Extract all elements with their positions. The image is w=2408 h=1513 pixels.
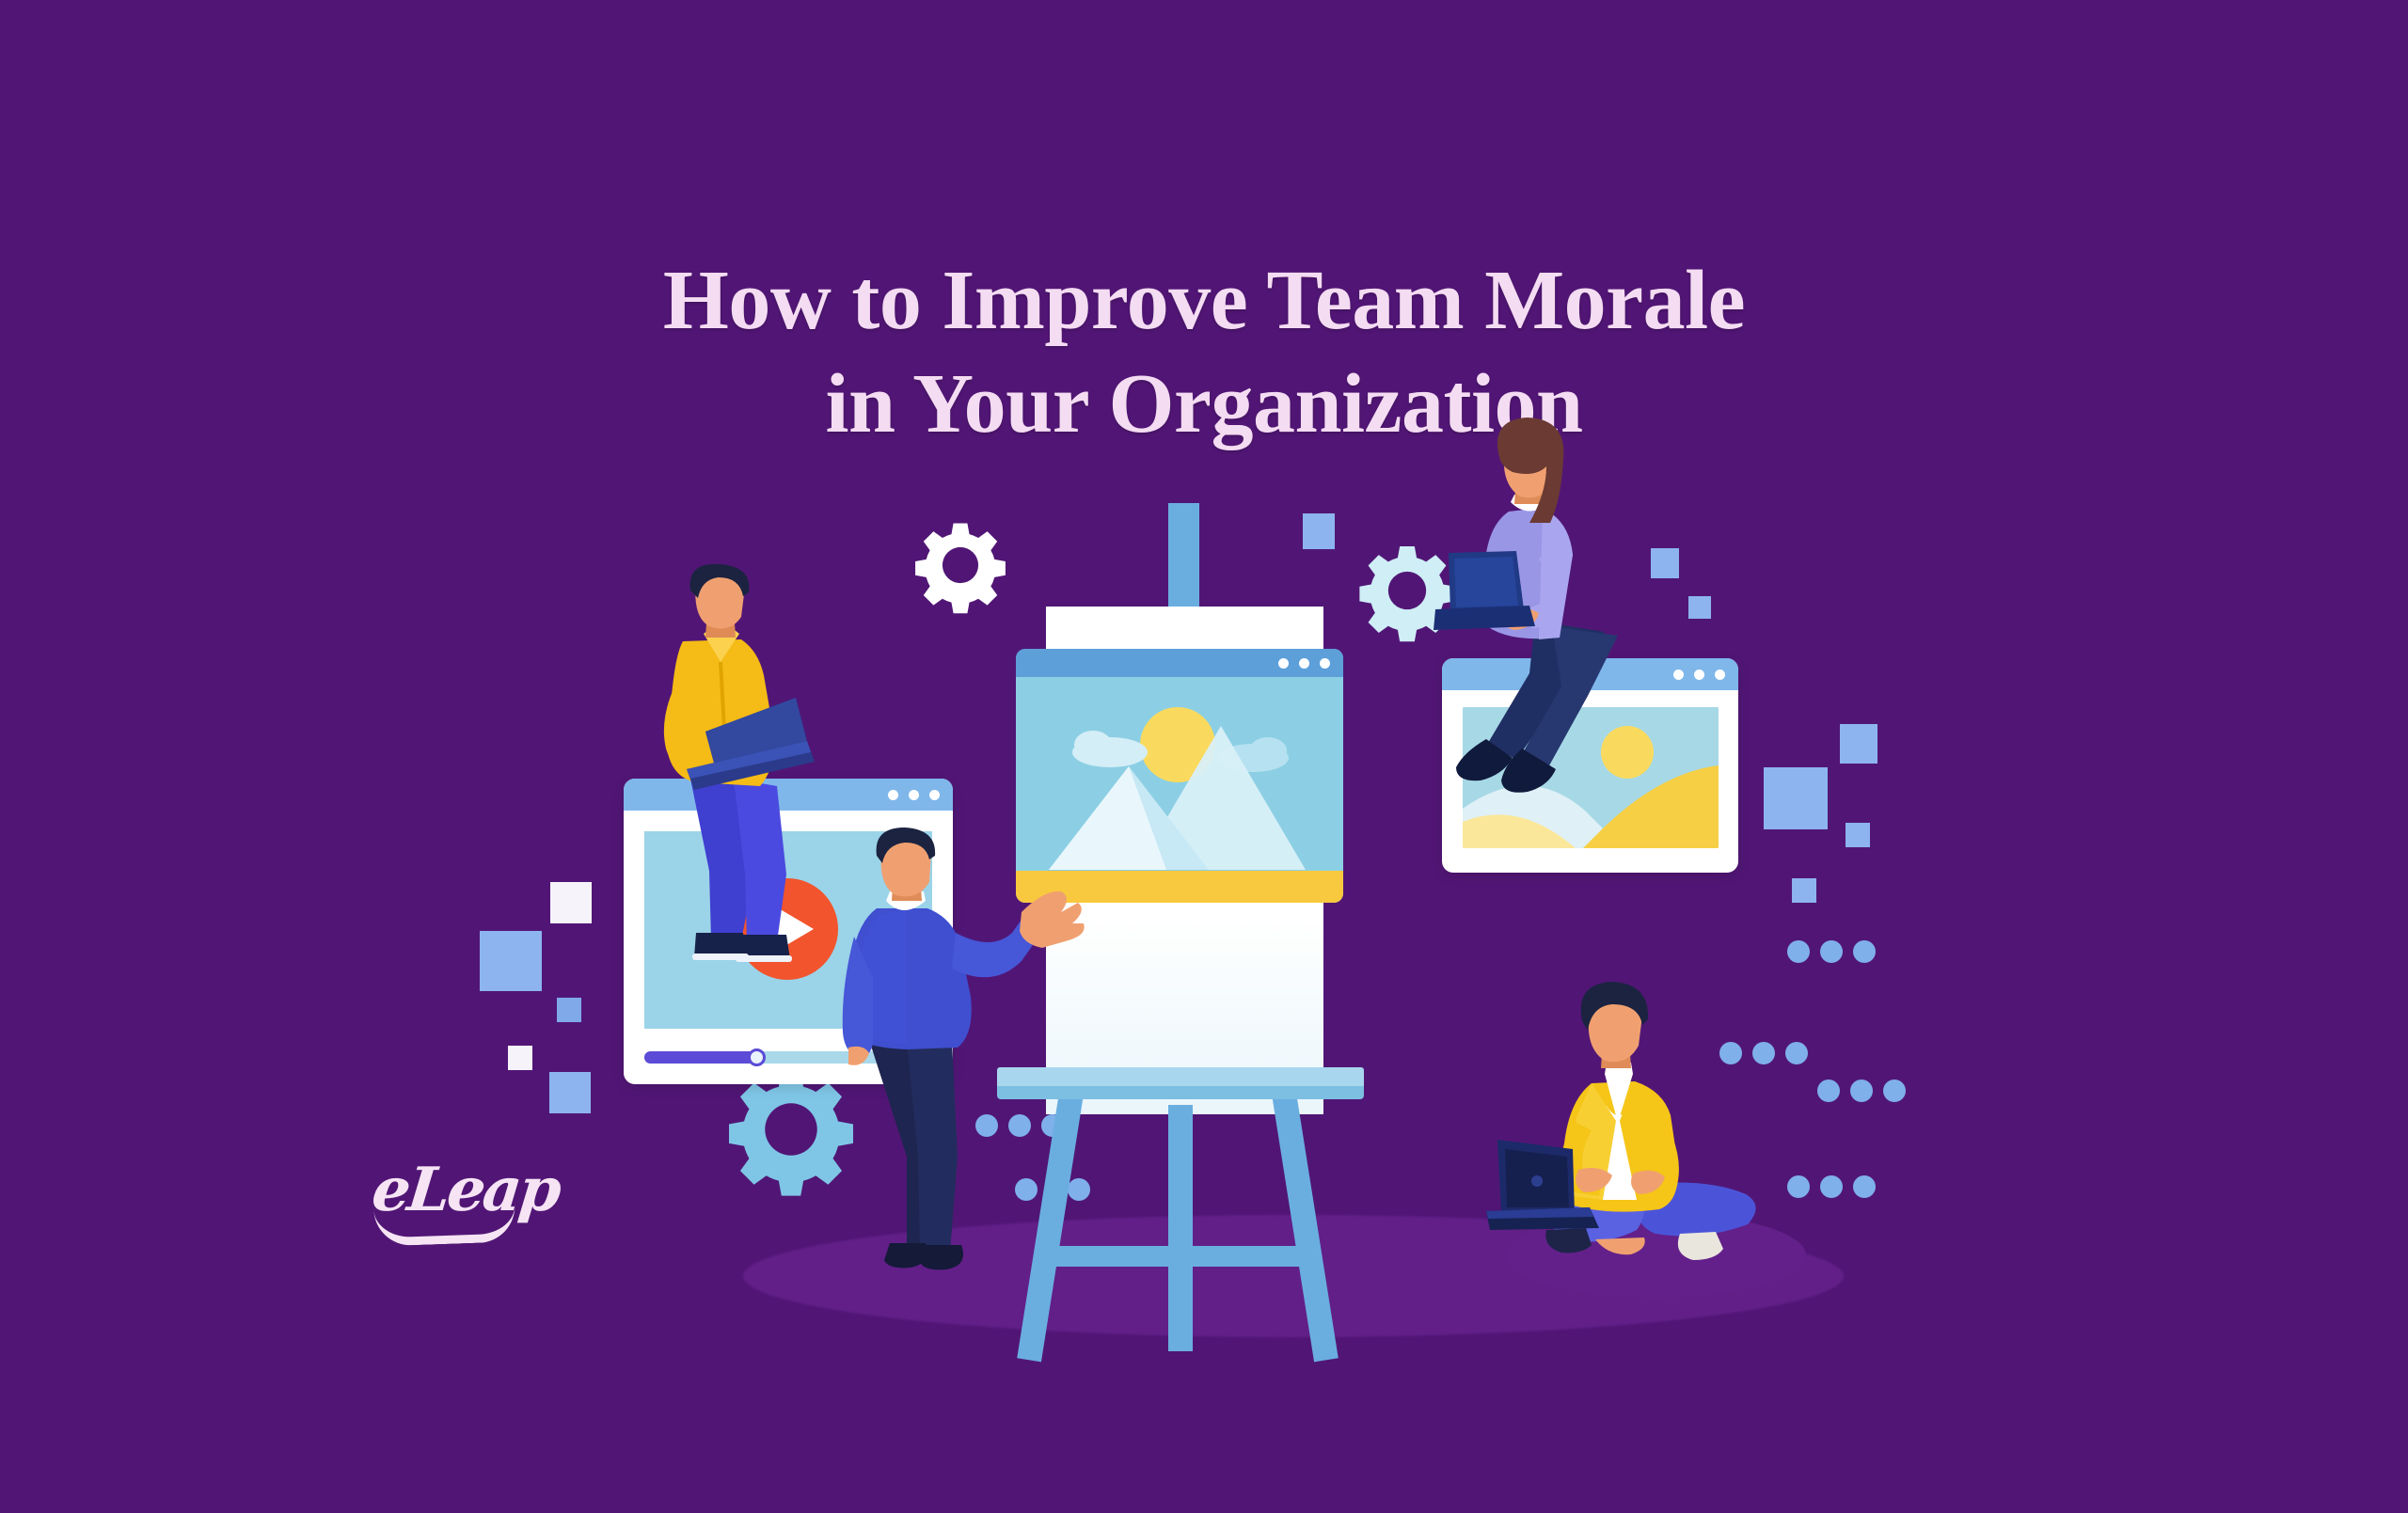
decor-square-blue-9 — [1846, 823, 1870, 847]
decor-square-white-2 — [508, 1046, 532, 1070]
decor-square-blue-1 — [480, 931, 542, 991]
figure-woman-lavender-sweater — [1430, 461, 1712, 799]
video-progress-knob[interactable] — [748, 1048, 766, 1066]
decor-square-white-1 — [550, 882, 592, 923]
decor-square-blue-8 — [1764, 767, 1828, 829]
brand-logo[interactable]: eLeap — [369, 1155, 562, 1225]
illustration-poster: How to Improve Team Morale in Your Organ… — [0, 0, 2408, 1513]
easel-top-post — [1168, 503, 1199, 614]
title-line-1: How to Improve Team Morale — [0, 249, 2408, 353]
page-title: How to Improve Team Morale in Your Organ… — [0, 249, 2408, 456]
video-progress-fill — [644, 1051, 757, 1064]
title-line-2: in Your Organization — [0, 353, 2408, 456]
figure-presenter-blue-sweater — [809, 846, 1110, 1288]
decor-square-blue-3 — [549, 1072, 591, 1113]
window-title-bar — [1016, 649, 1343, 677]
decor-square-blue-2 — [557, 998, 581, 1022]
brand-logo-swoosh-icon — [373, 1205, 515, 1246]
decor-square-blue-10 — [1792, 878, 1816, 903]
figure-man-yellow-jacket-sitting — [1505, 1016, 1815, 1298]
decor-square-blue-7 — [1840, 724, 1877, 764]
easel-leg-center — [1168, 1105, 1193, 1351]
